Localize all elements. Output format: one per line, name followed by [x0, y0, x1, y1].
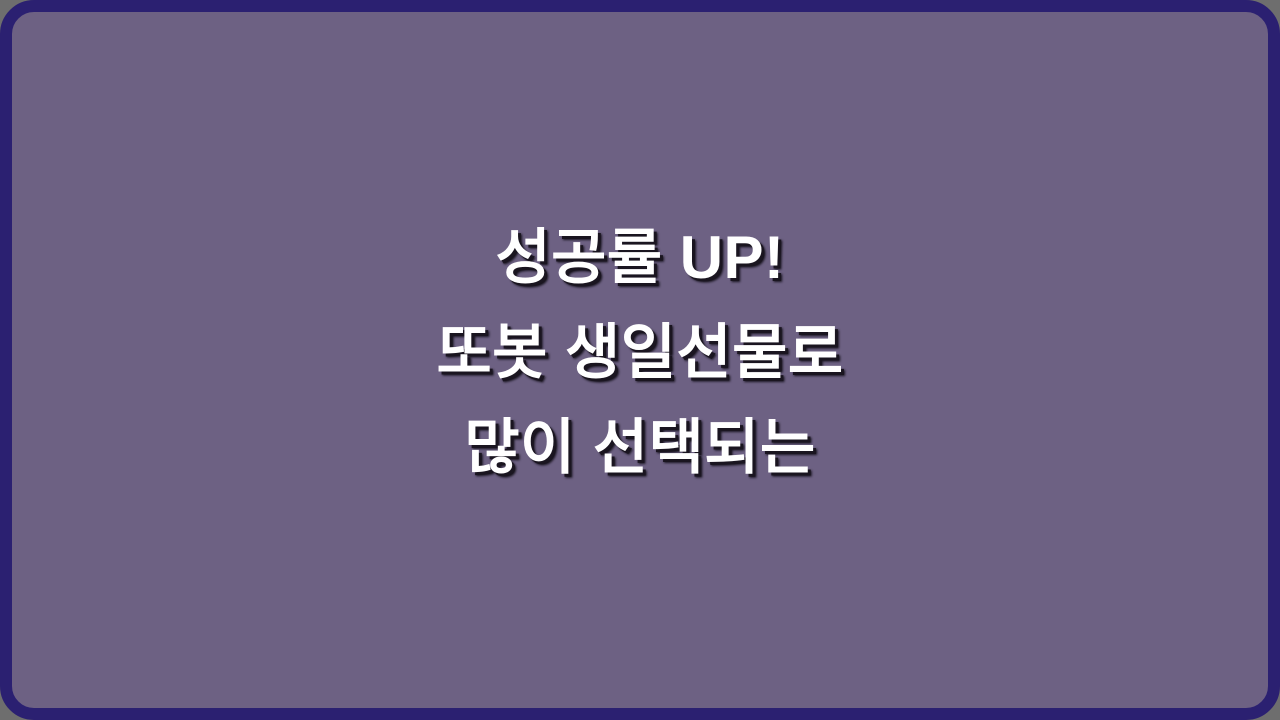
headline-line-1: 성공률 UP!	[12, 210, 1268, 305]
banner-stage: 성공률 UP! 또봇 생일선물로 많이 선택되는	[0, 0, 1280, 720]
headline-line-2: 또봇 생일선물로	[12, 305, 1268, 400]
banner-card: 성공률 UP! 또봇 생일선물로 많이 선택되는	[0, 0, 1280, 720]
headline-line-3: 많이 선택되는	[12, 400, 1268, 495]
headline-block: 성공률 UP! 또봇 생일선물로 많이 선택되는	[12, 210, 1268, 495]
